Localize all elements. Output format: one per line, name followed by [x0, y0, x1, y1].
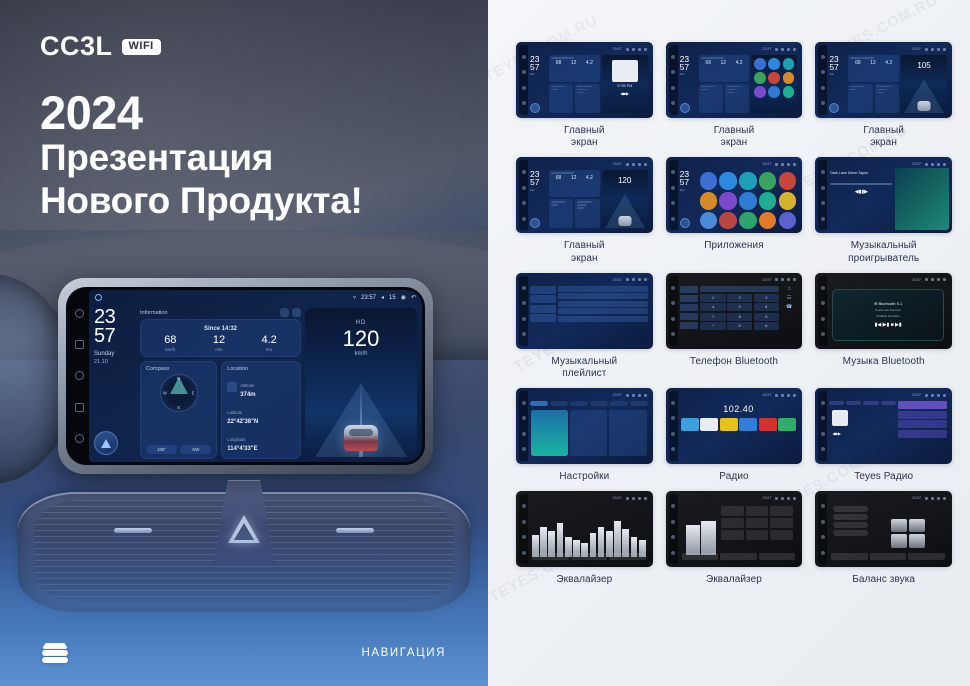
thumb-seat-icon[interactable]	[891, 534, 907, 548]
thumb-hud-panel[interactable]: 120	[602, 170, 648, 228]
thumb-nav-button[interactable]	[680, 103, 690, 113]
thumb-sidebar-icon[interactable]	[671, 55, 675, 59]
thumb-sidebar-icon[interactable]	[522, 286, 526, 290]
thumb-app-icon[interactable]	[783, 58, 795, 70]
thumb-app-icon[interactable]	[759, 212, 776, 229]
thumb-sidebar-icon[interactable]	[671, 504, 675, 508]
thumb-nav-button[interactable]	[530, 103, 540, 113]
thumb-location-card[interactable]	[575, 199, 599, 228]
thumb-sidebar-icon[interactable]	[522, 301, 526, 305]
thumb-sidebar-icon[interactable]	[522, 416, 526, 420]
thumb-eq-tabs[interactable]	[532, 553, 646, 560]
thumb-sidebar-icon[interactable]	[821, 86, 825, 90]
contacts-icon[interactable]: ☷	[787, 295, 791, 301]
gallery-item[interactable]: 23:57 23 57 Sun 68124.2	[516, 157, 653, 264]
screenshot-thumbnail[interactable]: 23:57	[666, 491, 803, 567]
thumb-compass-card[interactable]	[549, 84, 573, 113]
thumbnail-caption: Главный экран	[714, 125, 755, 149]
back-arrow-icon[interactable]: ↶	[411, 294, 416, 301]
sidebar-power-icon[interactable]	[75, 434, 84, 443]
clock-column: 23 57 Sunday 21.10	[94, 308, 136, 457]
thumb-app-icon[interactable]	[783, 86, 795, 98]
head-unit-sidebar[interactable]	[69, 290, 89, 462]
gallery-item[interactable]: 23:57 Эквалайзер	[516, 491, 653, 586]
screenshot-thumbnail[interactable]: 23:57 23 57 Sun 68124.2	[666, 42, 803, 118]
thumb-status-icon	[925, 48, 928, 51]
caption-line2: экран	[721, 137, 748, 148]
thumb-eq-sliders[interactable]	[530, 504, 648, 556]
thumbnail-caption: Радио	[719, 471, 748, 483]
thumb-sidebar[interactable]	[519, 45, 528, 115]
thumb-sidebar-icon[interactable]	[821, 201, 825, 205]
screen-body: 23 57 Sunday 21.10 Information	[89, 305, 422, 462]
thumb-sidebar-icon[interactable]	[821, 401, 825, 405]
thumb-sidebar-icon[interactable]	[821, 101, 825, 105]
thumb-status-icon	[626, 497, 629, 500]
thumb-sidebar-icon[interactable]	[821, 55, 825, 59]
thumb-balance-tab[interactable]	[870, 553, 907, 560]
gallery-item[interactable]: 23:57 23 57 Sun 68124.2	[516, 42, 653, 149]
gallery-item[interactable]: 23:57	[666, 491, 803, 586]
thumb-settings-tab[interactable]	[590, 401, 608, 406]
thumb-screen[interactable]: 23:57 102.40	[678, 391, 800, 461]
thumb-seat-icon[interactable]	[891, 519, 907, 533]
thumb-screen[interactable]: 23:57 23 57 Sun	[678, 160, 800, 230]
thumb-sidebar[interactable]	[818, 391, 827, 461]
thumb-sidebar[interactable]	[669, 160, 678, 230]
thumb-keypad-key[interactable]: 9	[754, 313, 779, 321]
thumb-app-icon[interactable]	[779, 172, 796, 189]
thumb-app-icon[interactable]	[719, 172, 736, 189]
thumb-screen[interactable]: 23:57	[827, 494, 949, 564]
screenshot-thumbnail[interactable]: 23:57 23 57 Sun 68124.2	[516, 42, 653, 118]
thumb-balance-pad[interactable]	[891, 519, 925, 548]
gallery-item[interactable]: 23:57 ✉ Bluetooth 5.1 Feels Like Summer …	[815, 273, 952, 380]
thumb-sidebar-icon[interactable]	[671, 416, 675, 420]
thumb-sidebar-icon[interactable]	[522, 504, 526, 508]
sidebar-home-icon[interactable]	[75, 309, 84, 318]
thumb-app-icon[interactable]	[754, 58, 766, 70]
thumb-screen[interactable]: 23:57 123456789*0# ☆ ☷	[678, 276, 800, 346]
thumb-balance-preset[interactable]	[833, 506, 868, 512]
gallery-item[interactable]: 23:57 ◀■▶ Teyes Ради	[815, 388, 952, 483]
thumb-sidebar[interactable]	[669, 494, 678, 564]
gallery-item[interactable]: 23:57	[815, 491, 952, 586]
thumb-nav-button[interactable]	[530, 218, 540, 228]
thumb-eq-slider[interactable]	[540, 527, 547, 557]
layers-icon[interactable]	[42, 643, 68, 663]
thumb-eq-tab[interactable]	[571, 553, 608, 560]
thumb-eq-slider[interactable]	[622, 529, 629, 557]
thumb-time: 23:57	[762, 162, 771, 166]
thumb-eq-tab[interactable]	[759, 553, 796, 560]
thumb-app-icon[interactable]	[759, 172, 776, 189]
thumb-sidebar-icon[interactable]	[671, 332, 675, 336]
thumb-more-tile[interactable]	[609, 410, 646, 456]
thumb-app-icon[interactable]	[739, 192, 756, 209]
thumb-sidebar-icon[interactable]	[522, 551, 526, 555]
thumb-info-num: 68	[556, 60, 562, 66]
thumb-playlist-tab[interactable]	[530, 295, 556, 303]
thumb-sidebar[interactable]	[669, 276, 678, 346]
thumb-media-panel[interactable]: 07:50 PM ◀■▶	[602, 55, 648, 113]
thumb-phone-tab[interactable]	[680, 295, 699, 302]
thumb-sidebar-icon[interactable]	[671, 186, 675, 190]
screenshot-thumbnail[interactable]: 23:57	[516, 491, 653, 567]
thumb-playlist-tab[interactable]	[530, 314, 556, 322]
thumb-balance-preset[interactable]	[833, 514, 868, 520]
thumb-sidebar-icon[interactable]	[671, 70, 675, 74]
thumb-sidebar-icon[interactable]	[821, 170, 825, 174]
thumb-eq-preset[interactable]	[770, 530, 793, 540]
thumb-compass-card[interactable]	[549, 199, 573, 228]
thumb-status-icon	[638, 394, 641, 397]
thumb-keypad-key[interactable]: 1	[700, 294, 725, 302]
thumb-sidebar-icon[interactable]	[821, 301, 825, 305]
thumb-eq-slider[interactable]	[701, 521, 715, 555]
thumb-status-icon	[793, 278, 796, 281]
thumb-sidebar-icon[interactable]	[821, 186, 825, 190]
thumb-compass-card[interactable]	[848, 84, 872, 113]
thumb-sidebar-icon[interactable]	[522, 101, 526, 105]
thumb-app-icon[interactable]	[779, 192, 796, 209]
thumb-bt-artist: Childish Gambino	[876, 314, 900, 318]
thumb-app-icon[interactable]	[768, 58, 780, 70]
thumb-status-icon	[925, 163, 928, 166]
screenshot-thumbnail[interactable]: 23:57 23 57 Sun 68124.2	[516, 157, 653, 233]
thumb-eq-tab[interactable]	[682, 553, 719, 560]
thumb-screen[interactable]: 23:57	[528, 276, 650, 346]
thumb-sidebar-icon[interactable]	[522, 535, 526, 539]
thumb-content: ◀■▶	[827, 399, 949, 461]
thumb-app-icon[interactable]	[768, 72, 780, 84]
thumb-sidebar-icon[interactable]	[821, 447, 825, 451]
thumb-status-bar: 23:57	[678, 160, 800, 168]
screenshot-thumbnail[interactable]: 23:57 23 57 Sun 68124.2	[815, 42, 952, 118]
thumb-sidebar-icon[interactable]	[522, 55, 526, 59]
thumb-eq-slider[interactable]	[614, 521, 621, 557]
latitude-label: Latitude	[227, 410, 242, 415]
thumb-balance-tab[interactable]	[831, 553, 868, 560]
thumb-eq-slider[interactable]	[557, 523, 564, 557]
thumb-sidebar-icon[interactable]	[671, 170, 675, 174]
thumb-location-card[interactable]	[575, 84, 599, 113]
expand-icon[interactable]	[292, 308, 301, 317]
thumb-radio-preset[interactable]	[759, 418, 777, 431]
thumb-app-icon[interactable]	[719, 212, 736, 229]
thumb-balance-preset[interactable]	[833, 522, 868, 528]
thumb-sidebar-icon[interactable]	[671, 86, 675, 90]
thumb-eq-preset[interactable]	[770, 506, 793, 516]
thumb-radio-preset[interactable]	[681, 418, 699, 431]
thumb-screen[interactable]: 23:57 ✉ Bluetooth 5.1 Feels Like Summer …	[827, 276, 949, 346]
thumb-radio-preset[interactable]	[700, 418, 718, 431]
thumb-screen[interactable]: 23:57	[678, 494, 800, 564]
information-widget[interactable]: Information Since 14:32	[140, 308, 301, 357]
thumb-nav-button[interactable]	[829, 103, 839, 113]
thumb-info-card: 68124.2	[848, 55, 899, 82]
thumb-settings-tab[interactable]	[630, 401, 648, 406]
thumb-balance-preset[interactable]	[833, 530, 868, 536]
thumb-sidebar-icon[interactable]	[821, 217, 825, 221]
home-icon[interactable]	[95, 294, 102, 301]
thumb-info-num: 68	[705, 60, 711, 66]
thumb-app-icon[interactable]	[768, 86, 780, 98]
thumb-sidebar-icon[interactable]	[671, 101, 675, 105]
thumb-sidebar-icon[interactable]	[671, 217, 675, 221]
thumb-radio-preset[interactable]	[778, 418, 796, 431]
thumb-keypad-key[interactable]: 4	[700, 303, 725, 311]
thumb-keypad-key[interactable]: 5	[727, 303, 752, 311]
sidebar-apps-icon[interactable]	[75, 340, 84, 349]
gallery-item[interactable]: 23:57 123456789*0# ☆ ☷	[666, 273, 803, 380]
thumb-settings-tab[interactable]	[530, 401, 548, 406]
thumb-sidebar[interactable]	[519, 391, 528, 461]
hud-speed-value: 120	[343, 328, 380, 350]
thumb-eq-preset[interactable]	[746, 530, 769, 540]
thumb-sidebar[interactable]	[519, 494, 528, 564]
thumb-compass-card[interactable]	[699, 84, 723, 113]
thumb-eq-slider[interactable]	[686, 525, 700, 555]
thumb-eq-preset[interactable]	[721, 530, 744, 540]
thumb-keypad-key[interactable]: 2	[727, 294, 752, 302]
camera-icon[interactable]: ◉	[401, 294, 406, 301]
thumb-settings-tab[interactable]	[570, 401, 588, 406]
thumb-radio-preset[interactable]	[720, 418, 738, 431]
thumb-phone-tab[interactable]	[680, 286, 699, 293]
gallery-item[interactable]: 23:57 23 57 Sun 68124.2	[666, 42, 803, 149]
thumb-station-row[interactable]	[898, 401, 947, 409]
thumb-sidebar-icon[interactable]	[671, 551, 675, 555]
thumb-sidebar-icon[interactable]	[522, 332, 526, 336]
thumb-eq-preset[interactable]	[721, 518, 744, 528]
gallery-item[interactable]: 23:57 102.40 Радио	[666, 388, 803, 483]
thumb-status-icon	[925, 497, 928, 500]
thumb-sidebar-icon[interactable]	[522, 70, 526, 74]
thumb-sidebar-icon[interactable]	[671, 432, 675, 436]
screenshot-thumbnail[interactable]: 23:57 Dark Lane Demo Tapes ◀▮▮▶	[815, 157, 952, 233]
screenshot-thumbnail[interactable]: 23:57	[516, 388, 653, 464]
thumb-eq-slider[interactable]	[598, 527, 605, 557]
thumb-eq-tab[interactable]	[532, 553, 569, 560]
gallery-item[interactable]: 23:57 Музыкальный плейлист	[516, 273, 653, 380]
thumb-sidebar-icon[interactable]	[821, 70, 825, 74]
thumb-sidebar-icon[interactable]	[522, 401, 526, 405]
thumb-sidebar-icon[interactable]	[522, 317, 526, 321]
thumb-eq-preset[interactable]	[721, 506, 744, 516]
thumb-keypad-key[interactable]: 8	[727, 313, 752, 321]
star-icon[interactable]: ☆	[787, 286, 791, 292]
thumb-app-icon[interactable]	[783, 72, 795, 84]
thumb-info-num: 12	[870, 60, 876, 66]
thumb-screen[interactable]: 23:57 23 57 Sun 68124.2	[528, 45, 650, 115]
thumb-app-icon[interactable]	[759, 192, 776, 209]
thumb-balance-tab[interactable]	[908, 553, 945, 560]
thumb-sidebar-icon[interactable]	[821, 551, 825, 555]
thumb-playlist-tab[interactable]	[530, 305, 556, 313]
thumb-keypad-key[interactable]: #	[754, 322, 779, 330]
thumb-apps-panel[interactable]	[751, 55, 797, 113]
thumb-sidebar-icon[interactable]	[522, 447, 526, 451]
thumb-sidebar-icon[interactable]	[671, 520, 675, 524]
thumb-station-row[interactable]	[898, 411, 947, 419]
thumb-nav-button[interactable]	[680, 218, 690, 228]
screenshot-gallery-panel: TEYES.COM.RU TEYES.COM.RU TEYES.COM.RU T…	[488, 0, 970, 686]
caption-line2: проигрыватель	[848, 253, 919, 264]
thumb-wifi-tile[interactable]	[531, 410, 568, 456]
thumb-keypad-key[interactable]: 3	[754, 294, 779, 302]
thumb-eq-preset[interactable]	[770, 518, 793, 528]
thumb-sidebar-icon[interactable]	[522, 201, 526, 205]
thumb-sidebar-icon[interactable]	[671, 301, 675, 305]
thumb-sidebar-icon[interactable]	[821, 416, 825, 420]
thumb-track-row[interactable]	[558, 293, 648, 299]
refresh-icon[interactable]	[280, 308, 289, 317]
head-unit-screen[interactable]: ▿ 23:57 ◂ 15 ◉ ↶ 23 57 Sunday 21.10	[89, 290, 422, 462]
thumb-sidebar-icon[interactable]	[821, 535, 825, 539]
thumb-track-row[interactable]	[558, 308, 648, 314]
thumb-app-icon[interactable]	[739, 212, 756, 229]
thumb-sidebar-icon[interactable]	[671, 286, 675, 290]
thumb-sidebar-icon[interactable]	[821, 332, 825, 336]
thumb-sidebar-icon[interactable]	[671, 447, 675, 451]
thumb-screen[interactable]: 23:57	[528, 391, 650, 461]
thumb-keypad-key[interactable]: 7	[700, 313, 725, 321]
thumb-eq-tab[interactable]	[720, 553, 757, 560]
thumb-track-row[interactable]	[558, 301, 648, 307]
screenshot-thumbnail[interactable]: 23:57	[516, 273, 653, 349]
screenshot-thumbnail[interactable]: 23:57 23 57 Sun	[666, 157, 803, 233]
screenshot-thumbnail[interactable]: 23:57 102.40	[666, 388, 803, 464]
screenshot-thumbnail[interactable]: 23:57 123456789*0# ☆ ☷	[666, 273, 803, 349]
thumb-sidebar[interactable]	[669, 391, 678, 461]
thumb-keypad-key[interactable]: *	[700, 322, 725, 330]
thumb-settings-tab[interactable]	[550, 401, 568, 406]
thumb-app-icon[interactable]	[700, 172, 717, 189]
sidebar-settings-icon[interactable]	[75, 403, 84, 412]
thumb-status-icon	[937, 163, 940, 166]
thumb-info-num: 4.2	[586, 60, 593, 66]
thumb-bt-controls[interactable]: ▮◀ ▶▮ ■ ▶▮	[875, 322, 902, 328]
gallery-item[interactable]: 23:57 23 57 Sun 68124.2	[815, 42, 952, 149]
thumb-hotspot-tile[interactable]	[570, 410, 607, 456]
thumb-seat-icon[interactable]	[909, 519, 925, 533]
thumb-keypad-key[interactable]: 0	[727, 322, 752, 330]
thumb-sidebar-icon[interactable]	[821, 432, 825, 436]
thumb-settings-tab[interactable]	[610, 401, 628, 406]
thumb-eq-tab[interactable]	[609, 553, 646, 560]
gallery-item[interactable]: 23:57 Dark Lane Demo Tapes ◀▮▮▶ Музыкаль…	[815, 157, 952, 264]
thumb-radio-presets[interactable]	[680, 418, 798, 431]
thumb-station-row[interactable]	[898, 430, 947, 438]
thumb-sidebar-icon[interactable]	[821, 520, 825, 524]
thumb-location-card[interactable]	[875, 84, 899, 113]
thumb-sidebar-icon[interactable]	[671, 401, 675, 405]
screenshot-thumbnail[interactable]: 23:57	[815, 491, 952, 567]
thumb-sidebar-icon[interactable]	[671, 317, 675, 321]
thumb-sidebar-icon[interactable]	[522, 432, 526, 436]
compass-widget[interactable]: Compass N E S W 180°	[140, 361, 217, 459]
thumb-station-row[interactable]	[898, 420, 947, 428]
thumb-sidebar[interactable]	[818, 45, 827, 115]
thumb-screen[interactable]: 23:57 ◀■▶	[827, 391, 949, 461]
thumb-sidebar-icon[interactable]	[522, 217, 526, 221]
thumb-app-icon[interactable]	[779, 212, 796, 229]
thumb-phone-tab[interactable]	[680, 322, 699, 329]
thumb-app-icon[interactable]	[739, 172, 756, 189]
thumb-sidebar[interactable]	[519, 276, 528, 346]
thumb-sidebar[interactable]	[818, 160, 827, 230]
information-actions[interactable]	[280, 308, 301, 317]
thumb-hud-panel[interactable]: 105	[901, 55, 947, 113]
thumb-sidebar-icon[interactable]	[671, 201, 675, 205]
thumb-playlist-tab[interactable]	[530, 286, 556, 294]
screenshot-thumbnail[interactable]: 23:57 ✉ Bluetooth 5.1 Feels Like Summer …	[815, 273, 952, 349]
thumb-status-icon	[638, 497, 641, 500]
hud-panel[interactable]: HD 120 km/h	[305, 308, 417, 457]
thumb-sidebar[interactable]	[519, 160, 528, 230]
thumb-sidebar-icon[interactable]	[522, 520, 526, 524]
thumb-sidebar-icon[interactable]	[522, 186, 526, 190]
thumb-status-icon	[937, 394, 940, 397]
thumb-screen[interactable]: 23:57	[528, 494, 650, 564]
widgets-column: Information Since 14:32	[140, 308, 301, 457]
thumb-keypad-key[interactable]: 6	[754, 303, 779, 311]
thumb-app-icon[interactable]	[754, 72, 766, 84]
thumb-radio-preset[interactable]	[739, 418, 757, 431]
location-widget[interactable]: Location Altitude 374m	[221, 361, 301, 459]
thumb-sidebar-icon[interactable]	[821, 504, 825, 508]
sidebar-music-icon[interactable]	[75, 371, 84, 380]
thumb-sidebar-icon[interactable]	[821, 286, 825, 290]
thumb-app-icon[interactable]	[700, 212, 717, 229]
thumb-status-icon	[626, 278, 629, 281]
thumb-screen[interactable]: 23:57 Dark Lane Demo Tapes ◀▮▮▶	[827, 160, 949, 230]
screenshot-thumbnail[interactable]: 23:57 ◀■▶	[815, 388, 952, 464]
thumb-track-row[interactable]	[558, 286, 648, 292]
thumb-phone-tab[interactable]	[680, 313, 699, 320]
thumb-sidebar-icon[interactable]	[522, 170, 526, 174]
thumb-app-icon[interactable]	[754, 86, 766, 98]
thumb-eq-preset[interactable]	[746, 506, 769, 516]
thumb-widget-row	[549, 84, 600, 113]
thumb-eq-preset[interactable]	[746, 518, 769, 528]
thumb-content	[827, 502, 949, 564]
call-icon[interactable]: ☎	[786, 304, 792, 310]
thumb-app-icon[interactable]	[719, 192, 736, 209]
thumb-sidebar-icon[interactable]	[522, 86, 526, 90]
gallery-item[interactable]: 23:57 23 57 Sun	[666, 157, 803, 264]
thumb-seat-icon[interactable]	[909, 534, 925, 548]
thumb-sidebar[interactable]	[669, 45, 678, 115]
thumb-sidebar[interactable]	[818, 276, 827, 346]
gallery-item[interactable]: 23:57	[516, 388, 653, 483]
thumb-location-card[interactable]	[725, 84, 749, 113]
thumb-screen[interactable]: 23:57 23 57 Sun 68124.2	[827, 45, 949, 115]
thumb-sidebar-icon[interactable]	[821, 317, 825, 321]
thumb-sidebar-icon[interactable]	[671, 535, 675, 539]
thumb-sidebar[interactable]	[818, 494, 827, 564]
thumb-screen[interactable]: 23:57 23 57 Sun 68124.2	[528, 160, 650, 230]
caption-line1: Музыкальный	[551, 356, 617, 367]
thumb-track-row[interactable]	[558, 316, 648, 322]
navigation-button[interactable]	[94, 431, 118, 455]
thumb-phone-tab[interactable]	[680, 304, 699, 311]
thumb-status-icon	[644, 497, 647, 500]
thumb-app-icon[interactable]	[700, 192, 717, 209]
thumb-screen[interactable]: 23:57 23 57 Sun 68124.2	[678, 45, 800, 115]
car-ahead-icon	[344, 425, 378, 451]
